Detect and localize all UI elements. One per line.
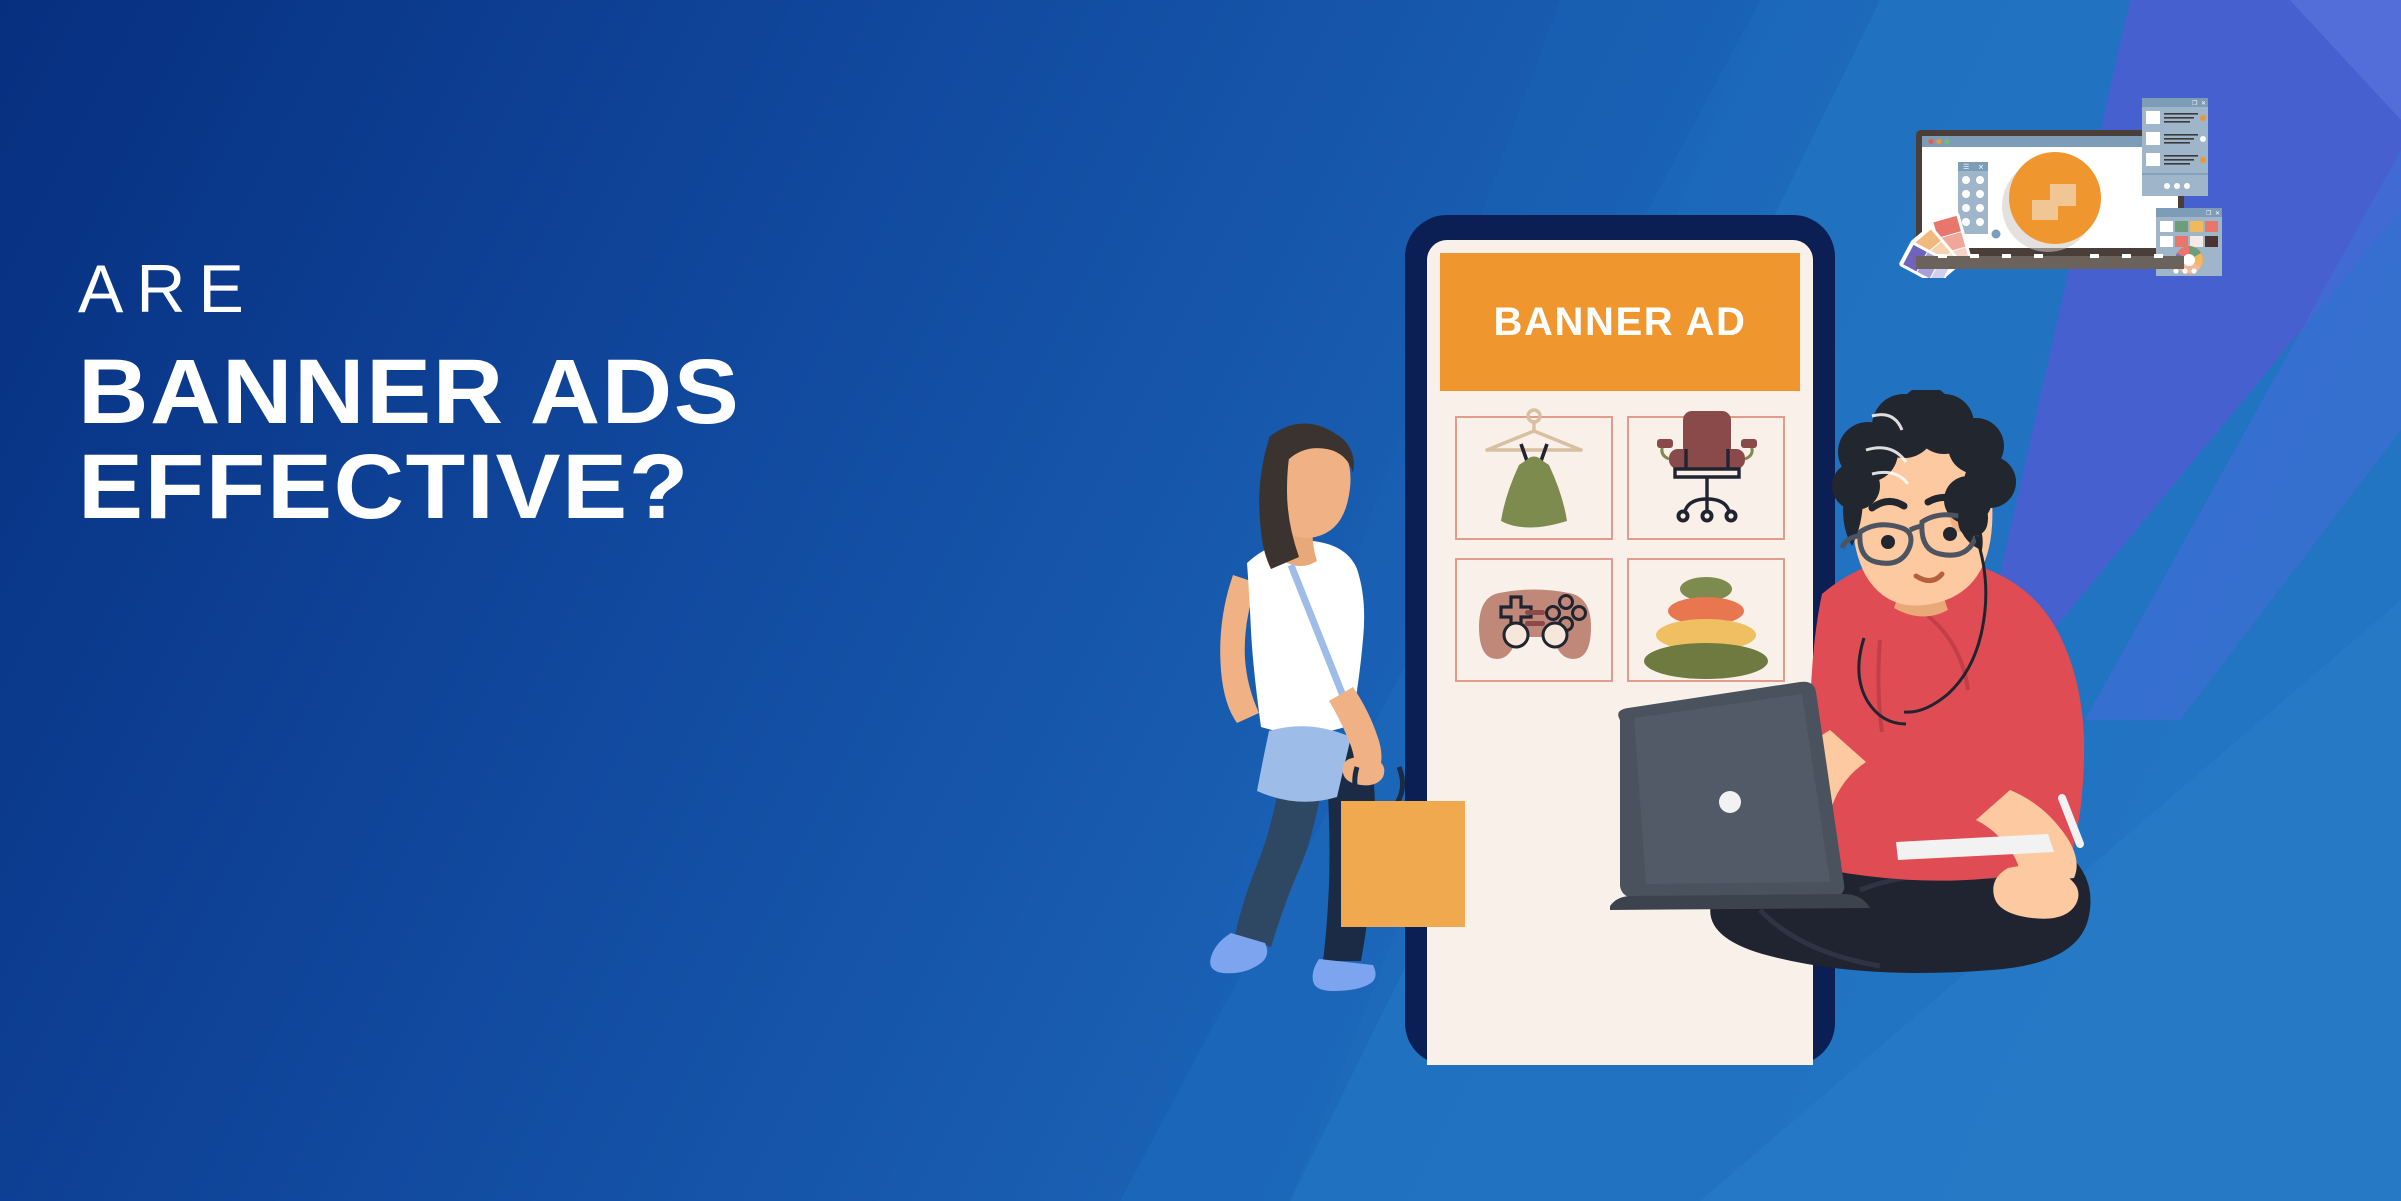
shopping-bag — [1341, 801, 1465, 927]
earphone-bud — [1958, 502, 1988, 536]
panel-restore-icon: ❐ — [2192, 100, 2198, 107]
palette-close-icon: ✕ — [1978, 165, 1984, 172]
headline-line-1: BANNER ADS — [78, 341, 740, 443]
woman-shopper-illustration — [1185, 415, 1505, 1055]
color-panel-close-icon: ✕ — [2215, 211, 2220, 217]
pager-dot — [2182, 268, 2187, 273]
window-maximize-dot — [1944, 139, 1949, 144]
pager-dot — [2164, 183, 2170, 189]
window-close-dot — [1928, 139, 1933, 144]
banner-ad-slot[interactable]: BANNER AD — [1440, 253, 1800, 391]
pager-dot — [2174, 183, 2180, 189]
panel-close-icon: ✕ — [2201, 101, 2206, 107]
pager-dot — [2184, 183, 2190, 189]
color-panel-restore-icon: ❐ — [2206, 210, 2212, 217]
monitor-stand — [1916, 256, 2184, 269]
headline-title: BANNER ADS EFFECTIVE? — [78, 345, 947, 535]
canvas-handle-dot — [1992, 230, 2001, 239]
man-eye-right — [1943, 527, 1957, 541]
palette-menu-icon: ☰ — [1963, 164, 1969, 171]
woman-hand — [1343, 756, 1385, 785]
layers-list-panel: ❐ ✕ — [2142, 98, 2208, 196]
headline-eyebrow: ARE — [78, 255, 898, 323]
woman-front-shoe — [1313, 959, 1376, 991]
headline-line-2: EFFECTIVE? — [78, 440, 947, 535]
banner-canvas: ARE BANNER ADS EFFECTIVE? ☰ ✕ — [0, 0, 2401, 1201]
woman-shoulder-bag — [1257, 726, 1351, 802]
man-designer-illustration — [1610, 390, 2250, 1080]
man-eye-left — [1881, 535, 1895, 549]
headline-block: ARE BANNER ADS EFFECTIVE? — [78, 255, 898, 535]
pager-dot — [2173, 268, 2178, 273]
app-title-bar — [1922, 136, 2178, 147]
banner-ad-label: BANNER AD — [1494, 300, 1747, 345]
design-workspace-illustration: ☰ ✕ ❐ ✕ — [1880, 88, 2240, 278]
laptop-base — [1610, 894, 1870, 910]
pager-dot — [2191, 268, 2196, 273]
laptop-logo — [1719, 791, 1741, 813]
window-minimize-dot — [1936, 139, 1941, 144]
